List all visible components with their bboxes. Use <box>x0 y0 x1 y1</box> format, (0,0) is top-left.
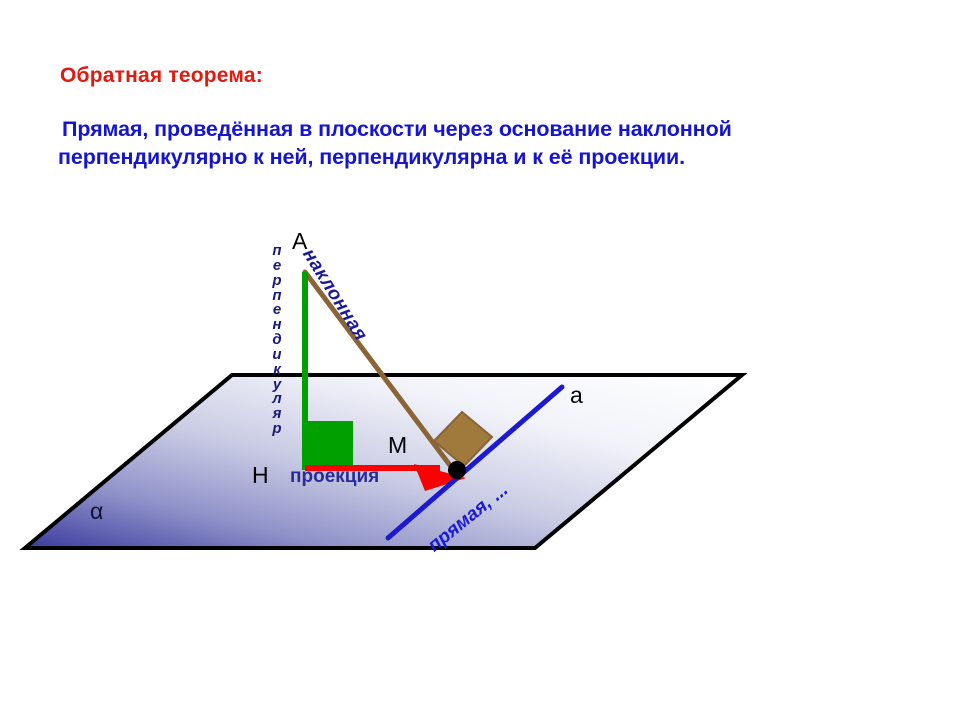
label-line-a: a <box>570 382 583 409</box>
plane-alpha <box>25 375 742 548</box>
geometry-figure: A H M a α перпендикуляр наклонная проекц… <box>0 0 960 720</box>
label-projection-word: проекция <box>290 466 379 488</box>
perpendicular-letter: р <box>266 422 288 437</box>
slide-canvas: Обратная теорема: Прямая, проведённая в … <box>0 0 960 720</box>
label-perpendicular-word: перпендикуляр <box>266 244 288 437</box>
right-angle-square-at-h <box>305 421 353 469</box>
label-plane-alpha: α <box>90 498 103 525</box>
figure-svg <box>0 0 960 720</box>
label-point-h: H <box>252 462 269 489</box>
point-m-dot <box>448 461 466 479</box>
label-point-m: M <box>388 432 407 459</box>
